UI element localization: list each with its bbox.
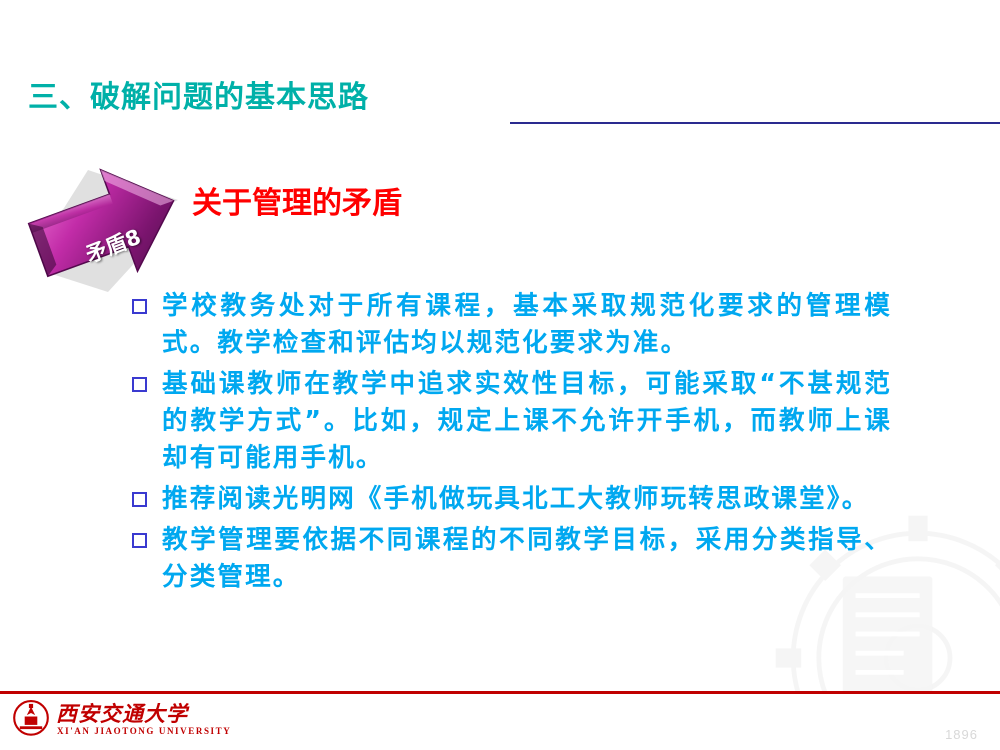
founding-year: 1896	[945, 727, 978, 742]
square-bullet-icon	[132, 377, 147, 392]
list-item-text: 基础课教师在教学中追求实效性目标，可能采取“不甚规范的教学方式”。比如，规定上课…	[162, 366, 892, 477]
list-item-text: 教学管理要依据不同课程的不同教学目标，采用分类指导、分类管理。	[162, 522, 892, 596]
bullet-list: 学校教务处对于所有课程，基本采取规范化要求的管理模式。教学检查和评估均以规范化要…	[132, 288, 892, 600]
list-item: 学校教务处对于所有课程，基本采取规范化要求的管理模式。教学检查和评估均以规范化要…	[132, 288, 892, 362]
list-item-text: 推荐阅读光明网《手机做玩具北工大教师玩转思政课堂》。	[162, 481, 892, 518]
heading-underline-rule	[510, 122, 1000, 124]
slide-heading-text: 三、破解问题的基本思路	[28, 78, 988, 118]
square-bullet-icon	[132, 533, 147, 548]
square-bullet-icon	[132, 299, 147, 314]
university-name-cn: 西安交通大学	[56, 698, 188, 728]
arrow-banner-icon	[24, 152, 192, 300]
university-logo: 西安交通大学 XI'AN JIAOTONG UNIVERSITY	[10, 696, 200, 748]
list-item: 教学管理要依据不同课程的不同教学目标，采用分类指导、分类管理。	[132, 522, 892, 596]
slide-canvas: 三、破解问题的基本思路	[0, 0, 1000, 750]
list-item-text: 学校教务处对于所有课程，基本采取规范化要求的管理模式。教学检查和评估均以规范化要…	[162, 288, 892, 362]
slide-heading: 三、破解问题的基本思路	[28, 78, 988, 124]
list-item: 推荐阅读光明网《手机做玩具北工大教师玩转思政课堂》。	[132, 481, 892, 518]
slide-footer: 西安交通大学 XI'AN JIAOTONG UNIVERSITY 1896	[0, 691, 1000, 750]
university-emblem-icon	[10, 698, 52, 742]
university-name-en: XI'AN JIAOTONG UNIVERSITY	[57, 726, 231, 736]
square-bullet-icon	[132, 492, 147, 507]
arrow-banner: 矛盾8	[24, 152, 192, 300]
list-item: 基础课教师在教学中追求实效性目标，可能采取“不甚规范的教学方式”。比如，规定上课…	[132, 366, 892, 477]
slide-subtitle: 关于管理的矛盾	[192, 178, 402, 222]
